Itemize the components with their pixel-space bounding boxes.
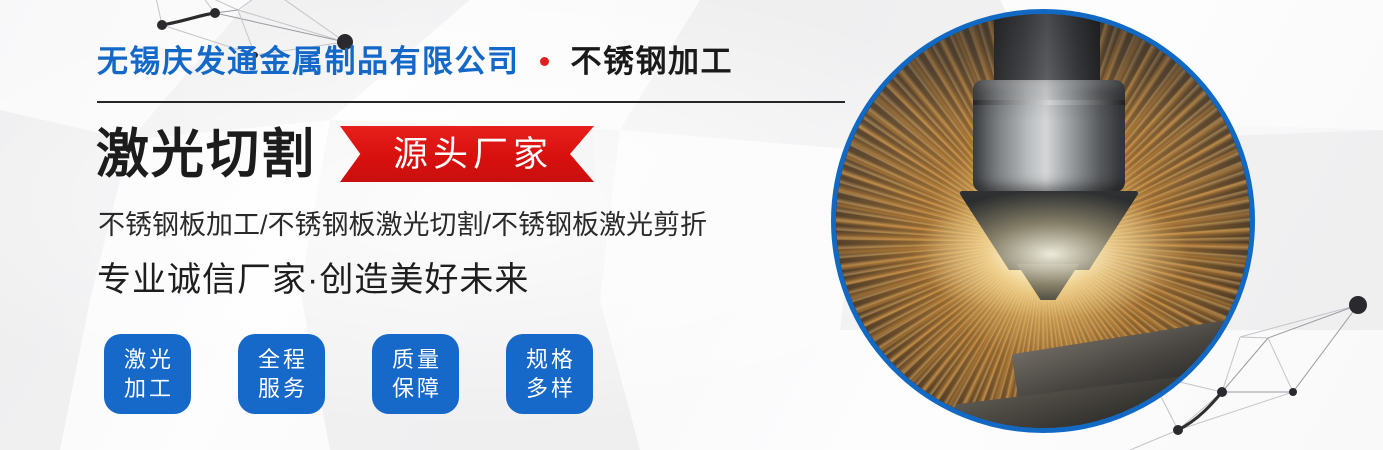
headline-main: 激光切割 xyxy=(96,128,316,181)
feature-badge-quality-guarantee[interactable]: 质量 保障 xyxy=(372,334,459,414)
headline-row: 激光切割 源头厂家 xyxy=(96,126,594,182)
photo-top-shade xyxy=(836,14,1250,428)
badge-line-1: 激光 xyxy=(121,345,174,374)
feature-badge-laser-processing[interactable]: 激光 加工 xyxy=(104,334,191,414)
feature-badge-full-service[interactable]: 全程 服务 xyxy=(238,334,325,414)
feature-badge-various-specs[interactable]: 规格 多样 xyxy=(506,334,593,414)
company-name: 无锡庆发通金属制品有限公司 xyxy=(97,46,520,77)
ribbon-label: 源头厂家 xyxy=(381,137,553,172)
badge-line-2: 加工 xyxy=(121,374,174,403)
badge-line-2: 服务 xyxy=(255,374,308,403)
badge-line-1: 质量 xyxy=(389,345,442,374)
photo-inner xyxy=(836,14,1250,428)
feature-badge-list: 激光 加工 全程 服务 质量 保障 规格 多样 xyxy=(104,334,593,414)
promo-banner: 无锡庆发通金属制品有限公司 不锈钢加工 激光切割 源头厂家 不锈钢板加工/不锈钢… xyxy=(0,0,1383,450)
company-header-row: 无锡庆发通金属制品有限公司 不锈钢加工 xyxy=(97,46,733,77)
banner-content: 无锡庆发通金属制品有限公司 不锈钢加工 激光切割 源头厂家 不锈钢板加工/不锈钢… xyxy=(0,0,860,450)
services-subtitle: 不锈钢板加工/不锈钢板激光切割/不锈钢板激光剪折 xyxy=(98,212,707,239)
badge-line-1: 规格 xyxy=(523,345,576,374)
red-dot-icon xyxy=(540,57,549,66)
header-divider xyxy=(97,101,845,103)
laser-cutting-photo xyxy=(831,9,1255,433)
badge-line-2: 保障 xyxy=(389,374,442,403)
source-factory-ribbon: 源头厂家 xyxy=(340,126,594,182)
badge-line-2: 多样 xyxy=(523,374,576,403)
badge-line-1: 全程 xyxy=(255,345,308,374)
company-category: 不锈钢加工 xyxy=(571,46,734,77)
slogan-subtitle: 专业诚信厂家·创造美好未来 xyxy=(97,263,529,297)
